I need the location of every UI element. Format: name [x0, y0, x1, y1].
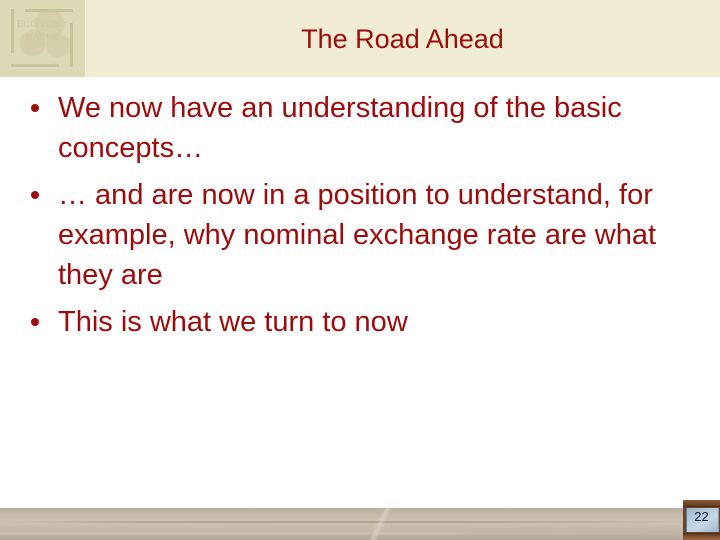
slide-body: We now have an understanding of the basi… [0, 77, 720, 508]
slide: ECON1050: MACRO The Road Ahead We now ha… [0, 0, 720, 540]
logo-frame-top-edge [25, 9, 73, 12]
slide-title: The Road Ahead [85, 23, 720, 55]
bullet-item: … and are now in a position to understan… [22, 175, 682, 295]
bullet-item: This is what we turn to now [22, 302, 682, 342]
bullet-text: This is what we turn to now [58, 302, 682, 342]
bullet-dot-icon [31, 191, 39, 199]
logo-text-line1: ECON1050: [17, 19, 67, 29]
page-number-badge: 22 [683, 500, 720, 540]
bullet-text: … and are now in a position to understan… [58, 175, 682, 295]
bullet-dot-icon [31, 318, 39, 326]
logo-text-line2: MACRO [0, 31, 85, 44]
course-logo: ECON1050: MACRO [0, 0, 85, 77]
badge-frame-bottom [683, 533, 720, 540]
bullet-text: We now have an understanding of the basi… [58, 88, 682, 168]
logo-frame-bottom-edge [11, 64, 59, 67]
page-number: 22 [683, 509, 720, 524]
bullet-list: We now have an understanding of the basi… [22, 88, 682, 349]
logo-text: ECON1050: MACRO [0, 18, 85, 44]
bullet-dot-icon [31, 104, 39, 112]
footer-texture-seam [345, 508, 415, 540]
bullet-item: We now have an understanding of the basi… [22, 88, 682, 168]
footer-photo-band [0, 508, 720, 540]
badge-frame-top [683, 500, 720, 507]
